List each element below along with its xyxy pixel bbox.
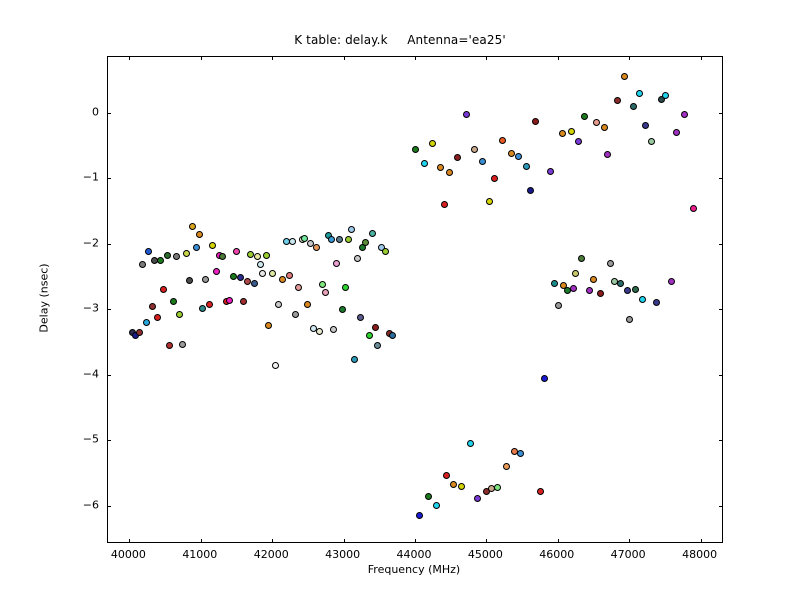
- scatter-point: [624, 287, 631, 294]
- scatter-point: [136, 329, 143, 336]
- scatter-point: [230, 273, 237, 280]
- scatter-point: [289, 238, 296, 245]
- scatter-point: [433, 502, 440, 509]
- scatter-point: [572, 270, 579, 277]
- scatter-point: [254, 253, 261, 260]
- x-tick-mark: [415, 539, 416, 543]
- x-tick-mark-top: [201, 56, 202, 60]
- scatter-point: [173, 253, 180, 260]
- y-tick-mark: [107, 309, 111, 310]
- plot-area[interactable]: [107, 56, 723, 543]
- scatter-point: [295, 284, 302, 291]
- scatter-point: [374, 342, 381, 349]
- x-tick-label: 47000: [611, 548, 646, 561]
- scatter-point: [494, 484, 501, 491]
- scatter-point: [467, 440, 474, 447]
- x-tick-mark-top: [629, 56, 630, 60]
- y-tick-mark-right: [719, 506, 723, 507]
- scatter-point: [389, 332, 396, 339]
- scatter-point: [316, 328, 323, 335]
- scatter-point: [139, 261, 146, 268]
- y-axis-label: Delay (nsec): [38, 263, 51, 332]
- x-tick-mark-top: [415, 56, 416, 60]
- x-tick-label: 42000: [254, 548, 289, 561]
- y-tick-mark: [107, 375, 111, 376]
- y-tick-label: −3: [69, 302, 99, 315]
- scatter-point: [515, 153, 522, 160]
- scatter-point: [421, 160, 428, 167]
- scatter-point: [441, 201, 448, 208]
- scatter-point: [471, 146, 478, 153]
- y-tick-mark: [107, 506, 111, 507]
- scatter-point: [450, 481, 457, 488]
- scatter-point: [336, 236, 343, 243]
- scatter-point: [639, 296, 646, 303]
- scatter-point: [463, 111, 470, 118]
- scatter-point: [642, 122, 649, 129]
- scatter-point: [425, 493, 432, 500]
- scatter-point: [186, 277, 193, 284]
- y-tick-mark-right: [719, 178, 723, 179]
- scatter-point: [578, 255, 585, 262]
- y-tick-mark-right: [719, 440, 723, 441]
- scatter-point: [590, 276, 597, 283]
- scatter-point: [322, 289, 329, 296]
- scatter-point: [286, 272, 293, 279]
- y-tick-mark-right: [719, 244, 723, 245]
- scatter-point: [632, 286, 639, 293]
- scatter-point: [164, 252, 171, 259]
- scatter-point: [630, 103, 637, 110]
- x-tick-mark: [129, 539, 130, 543]
- scatter-point: [259, 270, 266, 277]
- scatter-point: [319, 281, 326, 288]
- x-tick-mark-top: [486, 56, 487, 60]
- scatter-point: [458, 483, 465, 490]
- scatter-point: [189, 223, 196, 230]
- chart-title: K table: delay.k Antenna='ea25': [0, 33, 800, 47]
- scatter-point: [479, 158, 486, 165]
- scatter-point: [292, 311, 299, 318]
- scatter-point: [362, 239, 369, 246]
- scatter-point: [233, 248, 240, 255]
- scatter-point: [244, 278, 251, 285]
- scatter-point: [202, 276, 209, 283]
- scatter-point: [532, 118, 539, 125]
- scatter-point: [690, 205, 697, 212]
- scatter-point: [499, 137, 506, 144]
- scatter-point: [149, 303, 156, 310]
- scatter-point: [275, 301, 282, 308]
- scatter-point: [597, 290, 604, 297]
- scatter-point: [330, 326, 337, 333]
- scatter-point: [339, 306, 346, 313]
- y-tick-mark: [107, 113, 111, 114]
- x-tick-mark-top: [129, 56, 130, 60]
- scatter-point: [354, 255, 361, 262]
- scatter-point: [653, 299, 660, 306]
- x-tick-label: 44000: [397, 548, 432, 561]
- scatter-point: [508, 150, 515, 157]
- x-tick-mark: [344, 539, 345, 543]
- scatter-point: [269, 270, 276, 277]
- scatter-point: [333, 260, 340, 267]
- scatter-point: [160, 286, 167, 293]
- scatter-point: [369, 230, 376, 237]
- x-tick-mark-top: [344, 56, 345, 60]
- scatter-point: [272, 362, 279, 369]
- scatter-point: [626, 316, 633, 323]
- figure-canvas: K table: delay.k Antenna='ea25' 40000410…: [0, 0, 800, 600]
- scatter-point: [551, 280, 558, 287]
- scatter-point: [486, 198, 493, 205]
- x-tick-label: 48000: [682, 548, 717, 561]
- y-tick-mark-right: [719, 309, 723, 310]
- y-tick-mark: [107, 244, 111, 245]
- scatter-point: [568, 128, 575, 135]
- scatter-point: [143, 319, 150, 326]
- y-tick-mark-right: [719, 113, 723, 114]
- y-tick-label: −5: [69, 433, 99, 446]
- scatter-point: [621, 73, 628, 80]
- scatter-point: [219, 253, 226, 260]
- scatter-point: [586, 287, 593, 294]
- scatter-point: [570, 285, 577, 292]
- scatter-point: [523, 163, 530, 170]
- scatter-point: [313, 244, 320, 251]
- scatter-point: [328, 236, 335, 243]
- scatter-point: [527, 187, 534, 194]
- scatter-point: [382, 248, 389, 255]
- scatter-point: [648, 138, 655, 145]
- scatter-point: [446, 169, 453, 176]
- scatter-point: [503, 463, 510, 470]
- scatter-point: [193, 244, 200, 251]
- scatter-point: [342, 284, 349, 291]
- x-tick-mark: [629, 539, 630, 543]
- scatter-point: [604, 151, 611, 158]
- scatter-point: [668, 278, 675, 285]
- x-tick-mark-top: [272, 56, 273, 60]
- x-tick-mark-top: [701, 56, 702, 60]
- scatter-point: [607, 260, 614, 267]
- scatter-point: [366, 332, 373, 339]
- scatter-point: [443, 472, 450, 479]
- scatter-point: [154, 314, 161, 321]
- y-tick-mark: [107, 440, 111, 441]
- x-tick-label: 41000: [182, 548, 217, 561]
- scatter-point: [183, 250, 190, 257]
- y-tick-label: −2: [69, 236, 99, 249]
- scatter-point: [416, 512, 423, 519]
- scatter-point: [614, 97, 621, 104]
- scatter-point: [206, 301, 213, 308]
- x-tick-label: 45000: [468, 548, 503, 561]
- x-tick-mark: [558, 539, 559, 543]
- scatter-point: [454, 154, 461, 161]
- scatter-point: [196, 231, 203, 238]
- scatter-point: [209, 242, 216, 249]
- x-tick-mark: [272, 539, 273, 543]
- scatter-point: [673, 129, 680, 136]
- scatter-point: [199, 305, 206, 312]
- scatter-point: [537, 488, 544, 495]
- scatter-point: [681, 111, 688, 118]
- scatter-point: [581, 113, 588, 120]
- scatter-point: [429, 140, 436, 147]
- scatter-point: [240, 298, 247, 305]
- scatter-point: [372, 324, 379, 331]
- scatter-point: [348, 226, 355, 233]
- scatter-point: [351, 356, 358, 363]
- scatter-point: [601, 124, 608, 131]
- scatter-point: [555, 302, 562, 309]
- scatter-point: [437, 164, 444, 171]
- x-tick-mark: [486, 539, 487, 543]
- x-tick-label: 46000: [539, 548, 574, 561]
- scatter-point: [491, 175, 498, 182]
- scatter-point: [176, 311, 183, 318]
- scatter-point: [547, 168, 554, 175]
- y-tick-label: −6: [69, 498, 99, 511]
- scatter-point: [257, 261, 264, 268]
- y-tick-label: −1: [69, 171, 99, 184]
- scatter-point: [157, 257, 164, 264]
- scatter-point: [226, 297, 233, 304]
- scatter-point: [251, 280, 258, 287]
- y-tick-label: −4: [69, 367, 99, 380]
- scatter-point: [575, 138, 582, 145]
- scatter-point: [263, 252, 270, 259]
- scatter-point: [412, 146, 419, 153]
- x-axis-label: Frequency (MHz): [107, 563, 721, 576]
- x-tick-label: 43000: [325, 548, 360, 561]
- x-tick-mark-top: [558, 56, 559, 60]
- scatter-point: [279, 276, 286, 283]
- scatter-points-layer: [108, 57, 722, 542]
- scatter-point: [179, 341, 186, 348]
- x-tick-mark: [201, 539, 202, 543]
- scatter-point: [474, 495, 481, 502]
- x-tick-mark: [701, 539, 702, 543]
- y-tick-label: 0: [69, 105, 99, 118]
- scatter-point: [170, 298, 177, 305]
- x-tick-label: 40000: [111, 548, 146, 561]
- scatter-point: [213, 268, 220, 275]
- scatter-point: [265, 322, 272, 329]
- scatter-point: [166, 342, 173, 349]
- scatter-point: [541, 375, 548, 382]
- y-tick-mark-right: [719, 375, 723, 376]
- y-tick-mark: [107, 178, 111, 179]
- scatter-point: [304, 301, 311, 308]
- scatter-point: [593, 119, 600, 126]
- scatter-point: [145, 248, 152, 255]
- scatter-point: [559, 130, 566, 137]
- scatter-point: [345, 236, 352, 243]
- scatter-point: [357, 314, 364, 321]
- scatter-point: [662, 92, 669, 99]
- scatter-point: [636, 90, 643, 97]
- scatter-point: [617, 280, 624, 287]
- scatter-point: [517, 450, 524, 457]
